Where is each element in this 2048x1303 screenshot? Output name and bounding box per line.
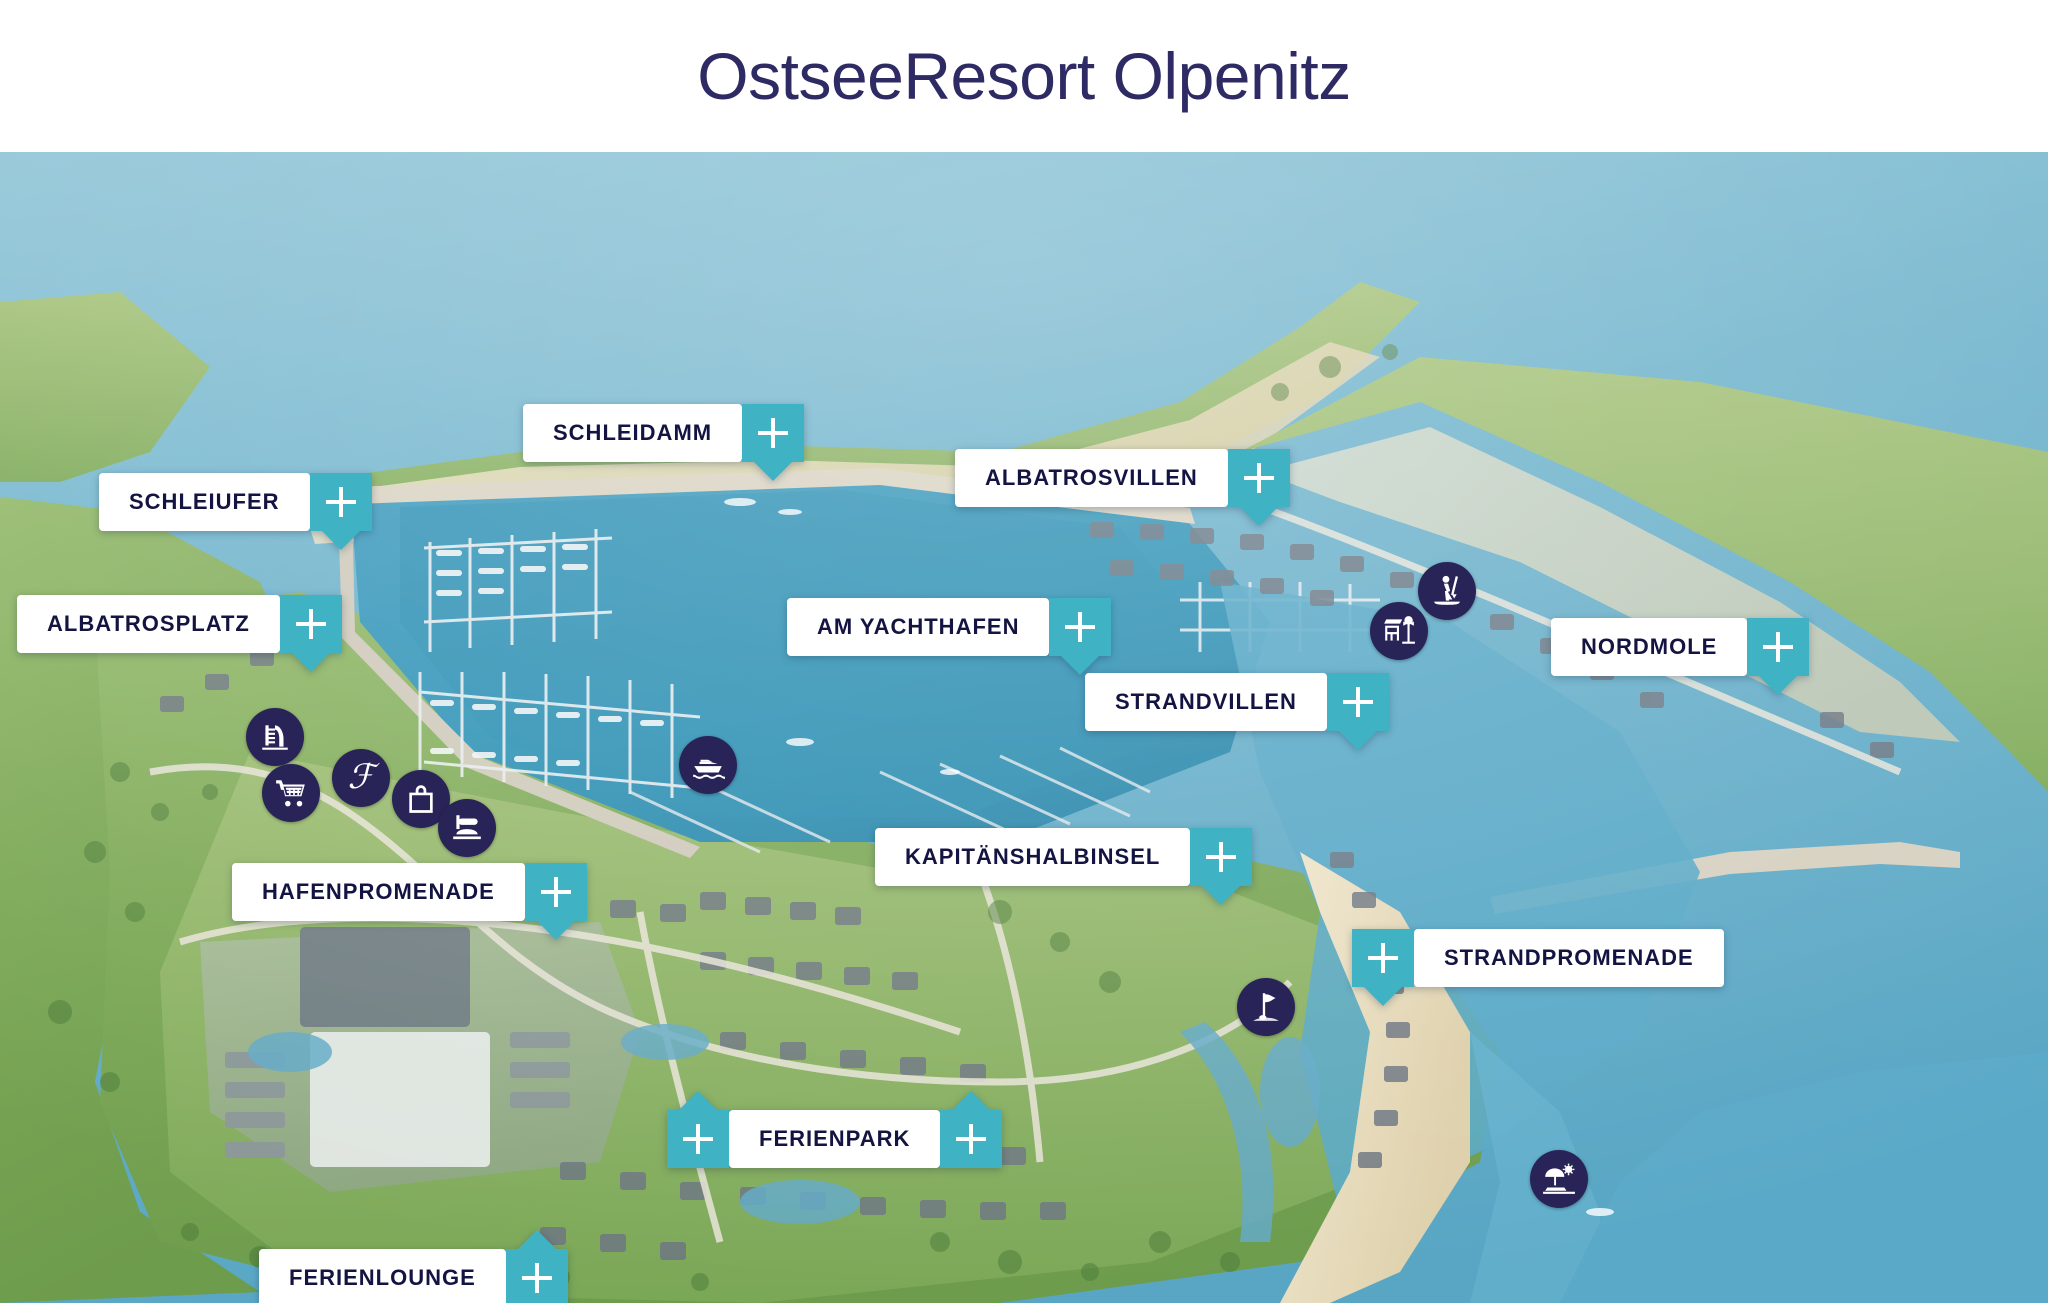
hotspot-label: ALBATROSPLATZ <box>47 613 250 635</box>
hotspot-label-wrap: KAPITÄNSHALBINSEL <box>875 828 1190 886</box>
hotspot-label: HAFENPROMENADE <box>262 881 495 903</box>
hotspot-label-wrap: FERIENLOUNGE <box>259 1249 506 1303</box>
resort-map-page: OstseeResort Olpenitz <box>0 0 2048 1303</box>
pointer-tip <box>1364 987 1402 1006</box>
pointer-tip <box>952 1091 990 1110</box>
hotspot-label: ALBATROSVILLEN <box>985 467 1198 489</box>
plus-button[interactable] <box>280 595 342 653</box>
hotspot-strandpromenade[interactable]: STRANDPROMENADE <box>1352 929 1724 987</box>
pointer-tip <box>754 462 792 481</box>
pointer-tip <box>292 653 330 672</box>
hotspot-label: SCHLEIDAMM <box>553 422 712 444</box>
pointer-tip <box>1339 731 1377 750</box>
plus-button[interactable] <box>1049 598 1111 656</box>
page-header: OstseeResort Olpenitz <box>0 0 2048 152</box>
resort-map[interactable]: SCHLEIDAMM SCHLEIUFER ALBATROSVILLEN ALB… <box>0 152 2048 1303</box>
golf-icon[interactable] <box>1237 978 1295 1036</box>
hotspot-label-wrap: SCHLEIDAMM <box>523 404 742 462</box>
paddleboard-icon[interactable] <box>1418 562 1476 620</box>
page-title: OstseeResort Olpenitz <box>697 38 1350 114</box>
f-logo-icon[interactable]: ℱ <box>332 749 390 807</box>
hotspot-label-wrap: NORDMOLE <box>1551 618 1747 676</box>
motorboat-icon[interactable] <box>679 736 737 794</box>
hotspot-hafenpromenade[interactable]: HAFENPROMENADE <box>232 863 587 921</box>
hotspot-kapitaenshalbinsel[interactable]: KAPITÄNSHALBINSEL <box>875 828 1252 886</box>
hotspot-label-wrap: ALBATROSPLATZ <box>17 595 280 653</box>
plus-button[interactable] <box>1228 449 1290 507</box>
f-logo-glyph: ℱ <box>348 761 375 795</box>
hotspot-label-wrap: STRANDVILLEN <box>1085 673 1327 731</box>
pointer-tip <box>1202 886 1240 905</box>
hotspot-label-wrap: ALBATROSVILLEN <box>955 449 1228 507</box>
hotspot-schleidamm[interactable]: SCHLEIDAMM <box>523 404 804 462</box>
pointer-tip <box>1759 676 1797 695</box>
shopping-cart-icon[interactable] <box>262 764 320 822</box>
hotspot-label: AM YACHTHAFEN <box>817 616 1019 638</box>
plus-button[interactable] <box>1190 828 1252 886</box>
map-aerial-illustration <box>0 152 2048 1303</box>
plus-button[interactable] <box>1747 618 1809 676</box>
plus-button[interactable] <box>742 404 804 462</box>
hotspot-label: FERIENPARK <box>759 1128 910 1150</box>
hotspot-am-yachthafen[interactable]: AM YACHTHAFEN <box>787 598 1111 656</box>
hotspot-label: SCHLEIUFER <box>129 491 280 513</box>
water-slide-icon[interactable] <box>246 708 304 766</box>
hotspot-label-wrap: HAFENPROMENADE <box>232 863 525 921</box>
hotspot-label: STRANDPROMENADE <box>1444 947 1694 969</box>
beach-umbrella-icon[interactable] <box>1530 1150 1588 1208</box>
plus-button[interactable] <box>1327 673 1389 731</box>
plus-button[interactable] <box>1352 929 1414 987</box>
pointer-tip <box>1240 507 1278 526</box>
hotspot-label-wrap: STRANDPROMENADE <box>1414 929 1724 987</box>
pointer-tip <box>537 921 575 940</box>
hotspot-label-wrap: SCHLEIUFER <box>99 473 310 531</box>
hotspot-label: STRANDVILLEN <box>1115 691 1297 713</box>
hotspot-label-wrap: AM YACHTHAFEN <box>787 598 1049 656</box>
hotspot-ferienpark[interactable]: FERIENPARK <box>667 1110 1002 1168</box>
hotspot-label: FERIENLOUNGE <box>289 1267 476 1289</box>
hotspot-label: KAPITÄNSHALBINSEL <box>905 846 1160 868</box>
hotspot-albatrosplatz[interactable]: ALBATROSPLATZ <box>17 595 342 653</box>
hotspot-schleiufer[interactable]: SCHLEIUFER <box>99 473 372 531</box>
hotspot-strandvillen[interactable]: STRANDVILLEN <box>1085 673 1389 731</box>
hotspot-label-wrap: FERIENPARK <box>729 1110 940 1168</box>
plus-button[interactable] <box>506 1249 568 1303</box>
plus-button-left[interactable] <box>667 1110 729 1168</box>
pointer-tip <box>679 1091 717 1110</box>
hotspot-label: NORDMOLE <box>1581 636 1717 658</box>
plus-button[interactable] <box>525 863 587 921</box>
plus-button-right[interactable] <box>940 1110 1002 1168</box>
marketplace-icon[interactable] <box>1370 602 1428 660</box>
hotspot-albatrosvillen[interactable]: ALBATROSVILLEN <box>955 449 1290 507</box>
hotspot-nordmole[interactable]: NORDMOLE <box>1551 618 1809 676</box>
hotspot-ferienlounge[interactable]: FERIENLOUNGE <box>259 1249 568 1303</box>
restaurant-icon[interactable] <box>438 799 496 857</box>
plus-button[interactable] <box>310 473 372 531</box>
pointer-tip <box>322 531 360 550</box>
pointer-tip <box>518 1230 556 1249</box>
